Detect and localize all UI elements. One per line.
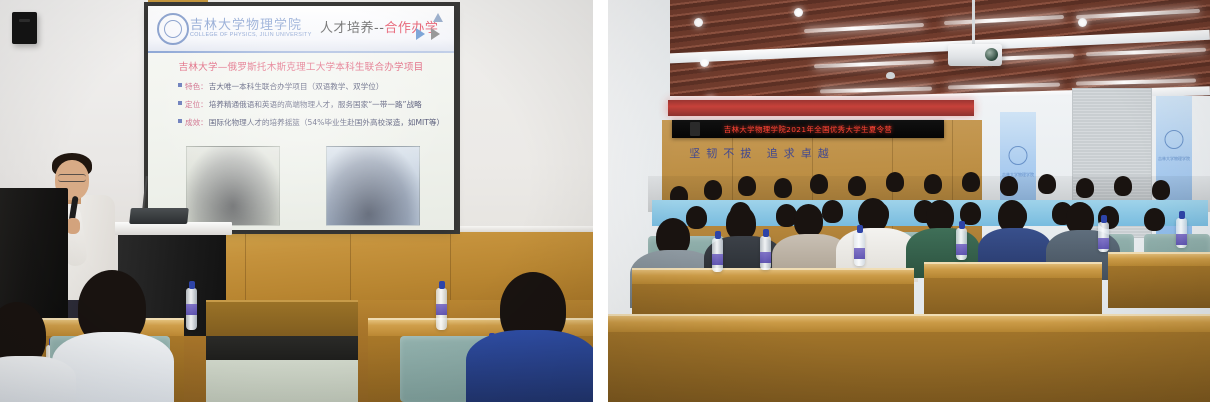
audience-head xyxy=(886,172,904,192)
audience-head-front xyxy=(858,198,888,232)
audience-head-front xyxy=(726,206,756,240)
slide-bullet-list: 特色： 吉大唯一本科生联合办学项目（双语教学、双学位） 定位： 培养精通俄语和英… xyxy=(178,81,442,135)
bullet-1-key: 特色： xyxy=(185,81,208,92)
audience-head xyxy=(686,206,707,229)
slide-image-group-photo xyxy=(186,146,280,226)
audience-shoulders xyxy=(0,356,76,402)
bullet-square-icon xyxy=(178,101,182,105)
triangle-up-icon xyxy=(433,13,443,22)
wall-calligraphy: 坚韧不拔 追求卓越 xyxy=(682,145,842,161)
slide-logo-en: COLLEGE OF PHYSICS, JILIN UNIVERSITY xyxy=(190,32,312,38)
dome-camera-icon xyxy=(886,72,895,79)
wall-speaker-icon xyxy=(690,122,700,136)
audience-head xyxy=(822,200,843,223)
bullet-3-key: 成效： xyxy=(185,117,208,128)
presenter-glasses-icon xyxy=(58,174,86,182)
jlu-seal-icon xyxy=(1009,146,1028,165)
water-bottle xyxy=(1098,222,1109,252)
water-bottle xyxy=(436,288,447,330)
audience-head-front xyxy=(794,204,823,237)
presenter-hand xyxy=(66,218,80,234)
slide-title: 吉林大学—俄罗斯托木斯克理工大学本科生联合办学项目 xyxy=(148,59,454,73)
bullet-3-value: 国际化物理人才的培养摇篮（54%毕业生赴国外高校深造，如MIT等） xyxy=(209,117,444,128)
audience-desk-front-row xyxy=(608,314,1210,334)
slide-image-classroom-photo xyxy=(326,146,420,226)
audience-head xyxy=(1000,176,1018,196)
audience-desk-front xyxy=(1108,266,1210,308)
projector-mount-pole xyxy=(972,0,975,46)
center-table-shadow xyxy=(206,336,358,362)
audience-head xyxy=(1144,208,1165,231)
water-bottle xyxy=(186,288,197,330)
ceiling-downlight xyxy=(794,8,803,17)
audience-desk-front-row-front xyxy=(608,332,1210,402)
audience-head xyxy=(848,176,866,196)
ceiling-projector xyxy=(948,44,1002,66)
center-table xyxy=(206,300,358,338)
bullet-2-key: 定位： xyxy=(185,99,208,110)
slide-heading-prefix: 人才培养-- xyxy=(320,21,384,36)
bullet-2-value: 培养精通俄语和英语的高端物理人才，服务国家“一带一路”战略 xyxy=(209,99,422,110)
audience-head xyxy=(962,172,980,192)
projection-screen: 吉林大学物理学院 COLLEGE OF PHYSICS, JILIN UNIVE… xyxy=(148,6,454,230)
center-table-base xyxy=(206,360,358,402)
red-led-ceiling-glow xyxy=(668,100,974,116)
right-photo-audience: 吉林大学物理学院2021年全国优秀大学生夏令营 坚韧不拔 追求卓越 吉林大学物理… xyxy=(608,0,1210,402)
two-photo-composite: 吉林大学物理学院 COLLEGE OF PHYSICS, JILIN UNIVE… xyxy=(0,0,1210,402)
lectern-laptop xyxy=(129,208,189,224)
slide-logo-cn: 吉林大学物理学院 xyxy=(190,14,302,33)
triangle-right-grey-icon xyxy=(431,28,440,40)
slide-bullet-3: 成效： 国际化物理人才的培养摇篮（54%毕业生赴国外高校深造，如MIT等） xyxy=(178,117,442,128)
floor-speaker xyxy=(0,188,68,320)
audience-head xyxy=(924,174,942,194)
projector-lens-icon xyxy=(985,48,998,61)
audience-head xyxy=(1152,180,1170,200)
jlu-seal-icon xyxy=(157,13,189,45)
jlu-seal-icon xyxy=(1165,130,1184,149)
water-bottle xyxy=(760,236,771,270)
audience-head xyxy=(738,176,756,196)
ceiling-downlight xyxy=(1078,18,1087,27)
slide-bullet-2: 定位： 培养精通俄语和英语的高端物理人才，服务国家“一带一路”战略 xyxy=(178,99,442,110)
ceiling-downlight xyxy=(700,58,709,67)
led-banner-text: 吉林大学物理学院2021年全国优秀大学生夏令营 xyxy=(724,124,892,135)
water-bottle xyxy=(854,232,865,266)
audience-head xyxy=(810,174,828,194)
bullet-1-value: 吉大唯一本科生联合办学项目（双语教学、双学位） xyxy=(209,81,384,92)
audience-head xyxy=(1038,174,1056,194)
bullet-square-icon xyxy=(178,83,182,87)
water-bottle xyxy=(956,228,967,260)
wall-speaker-icon xyxy=(12,12,37,44)
triangle-right-blue-icon xyxy=(416,28,425,40)
slide-header-bar: 吉林大学物理学院 COLLEGE OF PHYSICS, JILIN UNIVE… xyxy=(148,6,454,53)
ceiling-downlight xyxy=(694,18,703,27)
audience-shoulders xyxy=(466,330,593,402)
audience-head xyxy=(774,178,792,198)
slide-bullet-1: 特色： 吉大唯一本科生联合办学项目（双语教学、双学位） xyxy=(178,81,442,92)
bullet-square-icon xyxy=(178,119,182,123)
audience-head xyxy=(1076,178,1094,198)
water-bottle xyxy=(712,238,723,272)
led-banner: 吉林大学物理学院2021年全国优秀大学生夏令营 xyxy=(672,120,944,138)
left-photo-lecture-presenter: 吉林大学物理学院 COLLEGE OF PHYSICS, JILIN UNIVE… xyxy=(0,0,593,402)
water-bottle xyxy=(1176,218,1187,248)
side-banner-2-text: 吉林大学物理学院 xyxy=(1156,156,1192,162)
audience-head xyxy=(1114,176,1132,196)
audience-head xyxy=(704,180,722,200)
